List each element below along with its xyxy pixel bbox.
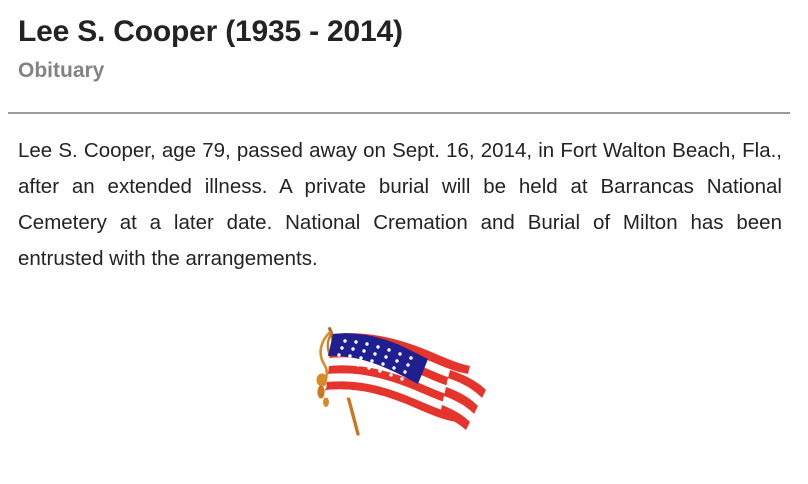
obituary-page: Lee S. Cooper (1935 - 2014) Obituary Lee… bbox=[0, 0, 808, 484]
obituary-body: Lee S. Cooper, age 79, passed away on Se… bbox=[18, 133, 782, 277]
page-title: Lee S. Cooper (1935 - 2014) bbox=[18, 14, 790, 50]
obituary-header: Lee S. Cooper (1935 - 2014) Obituary bbox=[0, 0, 808, 85]
section-subtitle: Obituary bbox=[18, 57, 790, 85]
american-flag-icon bbox=[300, 318, 510, 448]
header-divider bbox=[8, 112, 790, 114]
american-flag-figure bbox=[300, 318, 510, 448]
obituary-text: Lee S. Cooper, age 79, passed away on Se… bbox=[18, 133, 782, 277]
